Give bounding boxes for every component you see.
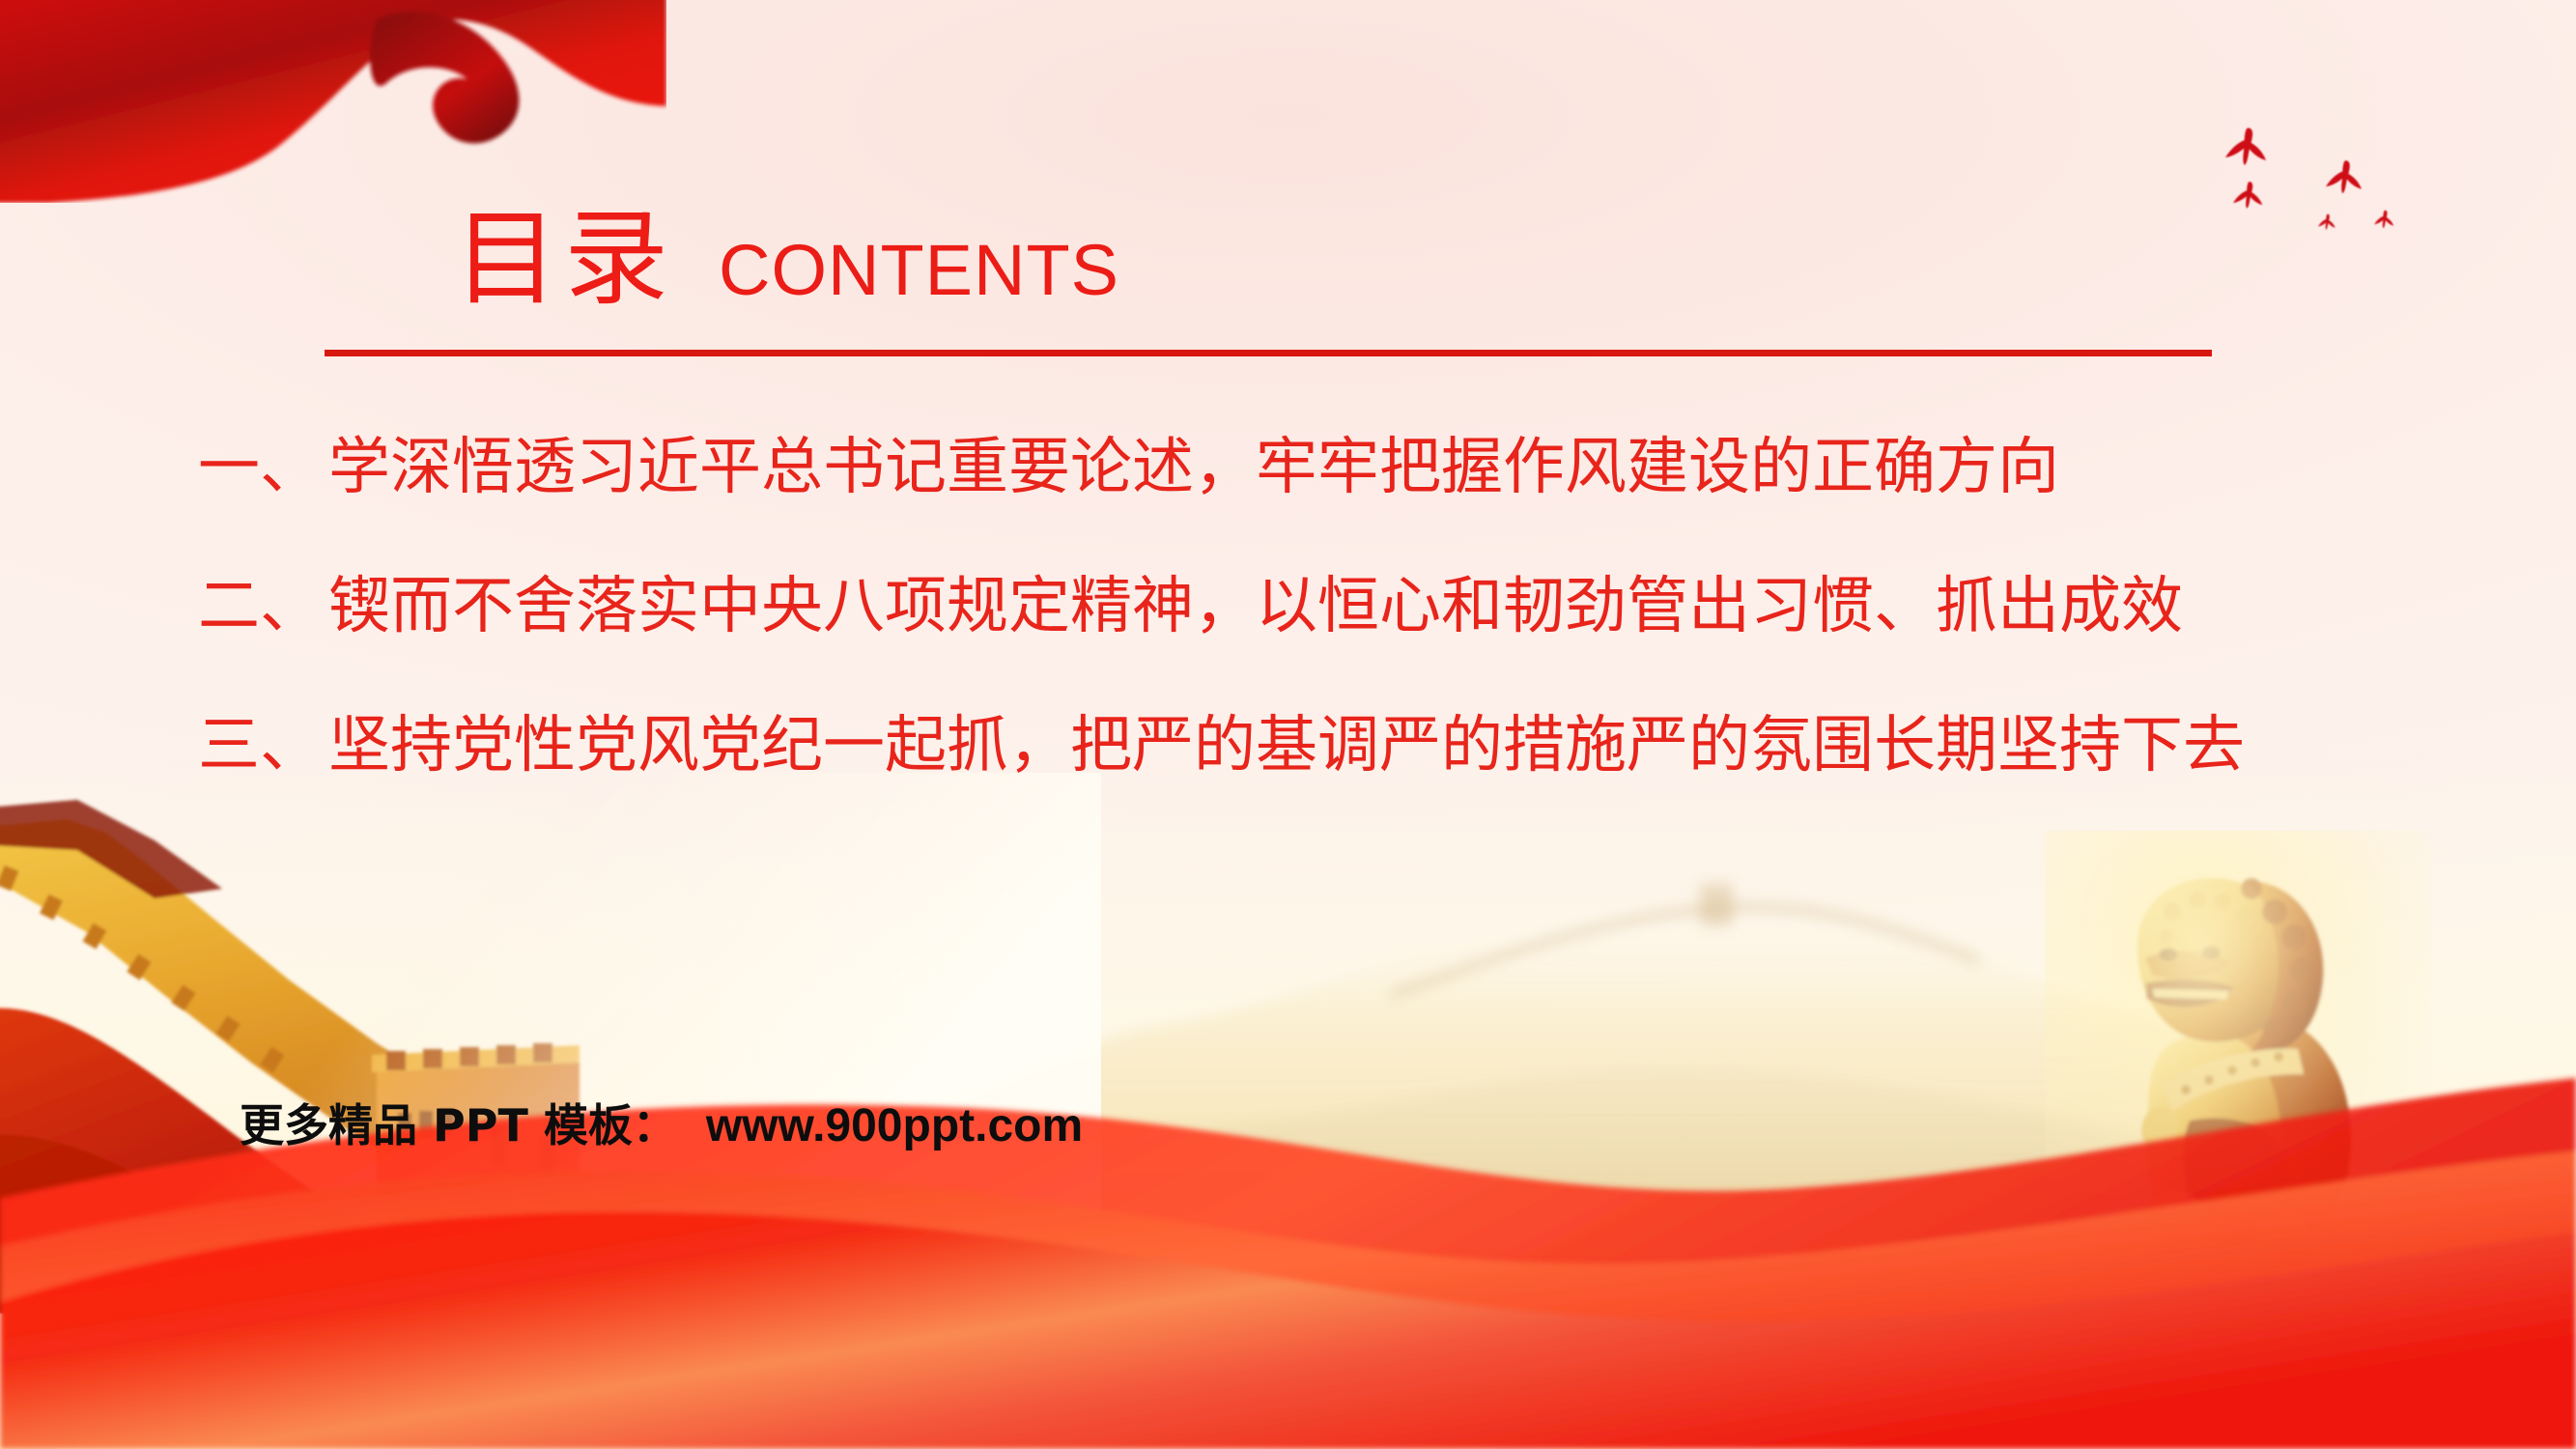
footer-watermark: 更多精品 PPT 模板： www.900ppt.com bbox=[240, 1103, 1083, 1150]
list-item[interactable]: 一、 学深悟透习近平总书记重要论述，牢牢把握作风建设的正确方向 bbox=[198, 437, 2449, 498]
list-item-index: 二、 bbox=[198, 576, 328, 638]
bird-icon bbox=[2233, 182, 2262, 209]
bird-icon bbox=[2326, 160, 2362, 193]
list-item-label: 坚持党性党风党纪一起抓，把严的基调严的措施严的氛围长期坚持下去 bbox=[328, 715, 2245, 777]
list-item[interactable]: 二、 锲而不舍落实中央八项规定精神，以恒心和韧劲管出习惯、抓出成效 bbox=[198, 576, 2449, 638]
page-title-en: CONTENTS bbox=[719, 235, 1119, 306]
list-item[interactable]: 三、 坚持党性党风党纪一起抓，把严的基调严的措施严的氛围长期坚持下去 bbox=[198, 715, 2449, 777]
footer-label: 更多精品 PPT 模板： bbox=[240, 1103, 677, 1148]
header-divider bbox=[325, 350, 2212, 356]
list-item-index: 三、 bbox=[198, 715, 328, 777]
contents-list: 一、 学深悟透习近平总书记重要论述，牢牢把握作风建设的正确方向 二、 锲而不舍落… bbox=[198, 437, 2449, 854]
bird-icon bbox=[2225, 128, 2266, 165]
red-silk-ribbon-top-left bbox=[0, 0, 666, 203]
bird-icon bbox=[2318, 214, 2335, 230]
flying-birds-flock-icon bbox=[2212, 121, 2453, 261]
page-title-cn: 目录 bbox=[454, 208, 674, 312]
presentation-slide: 目录 CONTENTS 一、 学深悟透习近平总书记重要论述，牢牢把握作风建设的正… bbox=[0, 0, 2576, 1449]
list-item-index: 一、 bbox=[198, 437, 328, 498]
list-item-label: 锲而不舍落实中央八项规定精神，以恒心和韧劲管出习惯、抓出成效 bbox=[328, 576, 2183, 638]
footer-url[interactable]: www.900ppt.com bbox=[706, 1103, 1083, 1150]
list-item-label: 学深悟透习近平总书记重要论述，牢牢把握作风建设的正确方向 bbox=[328, 437, 2059, 498]
slide-header: 目录 CONTENTS bbox=[454, 208, 1119, 312]
bird-icon bbox=[2374, 211, 2393, 228]
